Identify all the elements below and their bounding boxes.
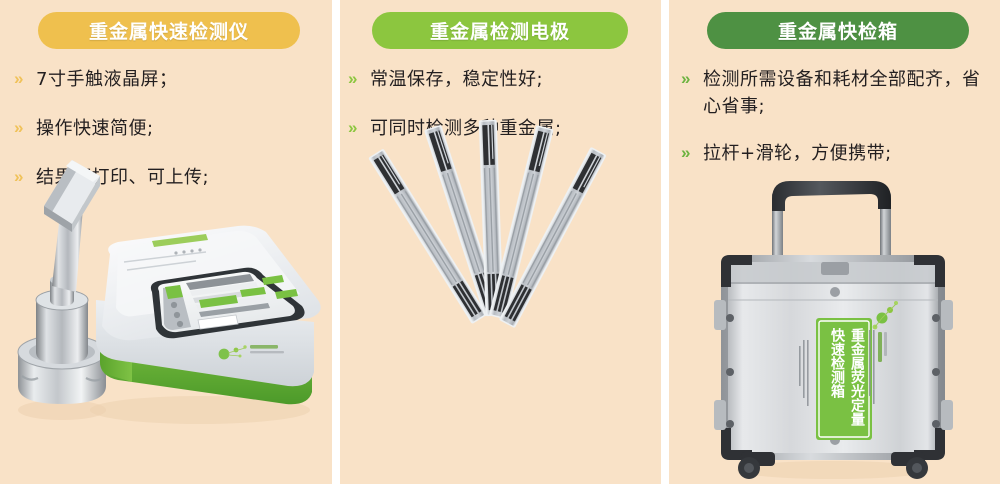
panel-heavy-metal-rapid-test-case: 重金属快检箱 » 检测所需设备和耗材全部配齐，省心省事; » 拉杆+滑轮，方便携… bbox=[669, 0, 1000, 484]
case-brand-text bbox=[799, 330, 875, 406]
case-label-line-1: 重金属荧光定量 bbox=[849, 327, 866, 427]
panel-3-title-text: 重金属快检箱 bbox=[778, 17, 898, 44]
list-item: » 常温保存，稳定性好; bbox=[348, 66, 653, 93]
list-item: » 7寸手触液晶屏； bbox=[14, 66, 324, 93]
chevron-double-right-icon: » bbox=[14, 66, 36, 92]
list-item-label: 拉杆+滑轮，方便携带; bbox=[703, 140, 892, 167]
list-item-label: 可同时检测多种重金属; bbox=[370, 115, 562, 142]
chevron-double-right-icon: » bbox=[14, 164, 36, 190]
electrode-strip bbox=[499, 147, 607, 329]
list-item-label: 检测所需设备和耗材全部配齐，省心省事; bbox=[703, 66, 993, 120]
list-item: » 可同时检测多种重金属; bbox=[348, 115, 653, 142]
panel-3-feature-list: » 检测所需设备和耗材全部配齐，省心省事; » 拉杆+滑轮，方便携带; bbox=[681, 66, 993, 187]
list-item-label: 操作快速简便; bbox=[36, 115, 154, 142]
screen-bezel bbox=[151, 268, 305, 339]
case-latch bbox=[941, 300, 953, 330]
top-lock bbox=[821, 262, 849, 275]
case-wheels bbox=[738, 452, 928, 479]
panel-heavy-metal-rapid-analyzer: 重金属快速检测仪 » 7寸手触液晶屏； » 操作快速简便; » 结果可打印、可上… bbox=[0, 0, 332, 484]
panel-1-title-pill: 重金属快速检测仪 bbox=[38, 12, 300, 49]
list-item-label: 7寸手触液晶屏； bbox=[36, 66, 177, 93]
vent-lines bbox=[124, 252, 206, 270]
case-latch bbox=[714, 400, 726, 430]
case-rivets bbox=[726, 314, 940, 428]
panel-2-feature-list: » 常温保存，稳定性好; » 可同时检测多种重金属; bbox=[348, 66, 653, 164]
panel-3-title-pill: 重金属快检箱 bbox=[707, 12, 969, 49]
list-item-label: 常温保存，稳定性好; bbox=[370, 66, 543, 93]
case-latch bbox=[941, 400, 953, 430]
electrode-strip bbox=[368, 148, 487, 324]
touchscreen bbox=[158, 272, 295, 332]
case-shell bbox=[728, 262, 938, 453]
panel-1-feature-list: » 7寸手触液晶屏； » 操作快速简便; » 结果可打印、可上传; bbox=[14, 66, 324, 213]
product-feature-banner: 重金属快速检测仪 » 7寸手触液晶屏； » 操作快速简便; » 结果可打印、可上… bbox=[0, 0, 1000, 484]
indicator-dots bbox=[174, 248, 201, 254]
chevron-double-right-icon: » bbox=[348, 66, 370, 92]
screen-sidebar bbox=[163, 285, 191, 330]
list-item: » 结果可打印、可上传; bbox=[14, 164, 324, 191]
case-latch bbox=[714, 300, 726, 330]
chevron-double-right-icon: » bbox=[681, 140, 703, 166]
screen-titlebar bbox=[186, 274, 254, 290]
list-item: » 操作快速简便; bbox=[14, 115, 324, 142]
panel-divider bbox=[661, 0, 669, 484]
case-frame bbox=[721, 255, 945, 460]
brand-logo bbox=[219, 345, 284, 359]
screen-sidebar-icons bbox=[171, 302, 183, 327]
screen-sidebar-active bbox=[165, 285, 183, 299]
list-item-label: 结果可打印、可上传; bbox=[36, 164, 209, 191]
panel-heavy-metal-detection-electrode: 重金属检测电极 » 常温保存，稳定性好; » 可同时检测多种重金属; bbox=[340, 0, 661, 484]
case-label-line-2: 快速检测箱 bbox=[829, 327, 845, 399]
case-product-label: 重金属荧光定量 快速检测箱 bbox=[816, 318, 872, 440]
list-item: » 检测所需设备和耗材全部配齐，省心省事; bbox=[681, 66, 993, 120]
chevron-double-right-icon: » bbox=[14, 115, 36, 141]
chevron-double-right-icon: » bbox=[681, 66, 703, 92]
analyzer-main-unit bbox=[90, 226, 321, 424]
panel-1-title-text: 重金属快速检测仪 bbox=[89, 17, 249, 44]
screen-action-buttons bbox=[199, 275, 298, 308]
case-brand-logo bbox=[873, 301, 898, 362]
trolley-handle bbox=[772, 181, 891, 262]
panel-divider bbox=[332, 0, 340, 484]
chevron-double-right-icon: » bbox=[348, 115, 370, 141]
bottom-lock bbox=[830, 435, 840, 445]
panel-2-title-text: 重金属检测电极 bbox=[430, 17, 570, 44]
list-item: » 拉杆+滑轮，方便携带; bbox=[681, 140, 993, 167]
rear-green-trim bbox=[152, 234, 208, 247]
corner-protectors bbox=[721, 255, 945, 460]
panel-2-title-pill: 重金属检测电极 bbox=[372, 12, 628, 49]
lock-cylinder bbox=[830, 287, 840, 297]
